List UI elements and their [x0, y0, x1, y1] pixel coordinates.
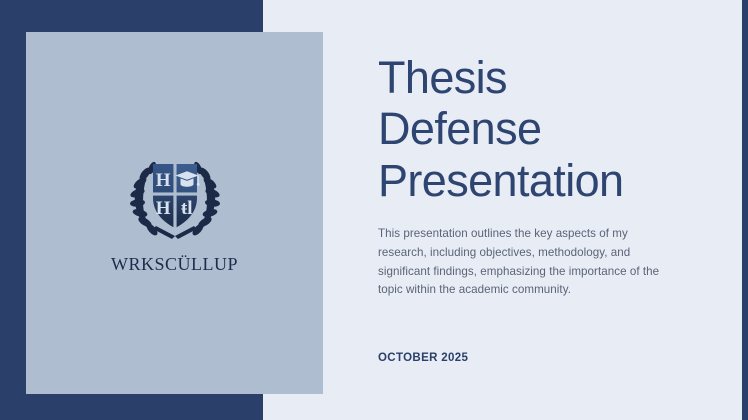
crest-monogram-tl: ŧl: [180, 198, 192, 219]
slide-content: Thesis Defense Presentation This present…: [378, 0, 678, 420]
shield-divider-vertical: [173, 164, 176, 228]
page-title: Thesis Defense Presentation: [378, 52, 678, 206]
slide-subtitle: This presentation outlines the key aspec…: [378, 225, 664, 300]
shield-divider-horizontal: [153, 192, 197, 195]
slide-canvas: H H ŧl Wrkscüllup Thesis Defense Present…: [0, 0, 748, 420]
title-line-3: Presentation: [378, 155, 678, 206]
slide-date: OCTOBER 2025: [378, 352, 468, 364]
logo-card: H H ŧl Wrkscüllup: [26, 32, 323, 394]
title-line-1: Thesis: [378, 52, 678, 103]
logo-lockup: H H ŧl Wrkscüllup: [26, 150, 323, 275]
right-edge-stripe: [742, 0, 748, 420]
university-crest-icon: H H ŧl: [119, 150, 231, 242]
crest-letter-h-bottom: H: [155, 198, 170, 219]
crest-letter-h-top: H: [155, 170, 170, 191]
logo-wordmark: Wrkscüllup: [111, 250, 238, 275]
title-line-2: Defense: [378, 103, 678, 154]
